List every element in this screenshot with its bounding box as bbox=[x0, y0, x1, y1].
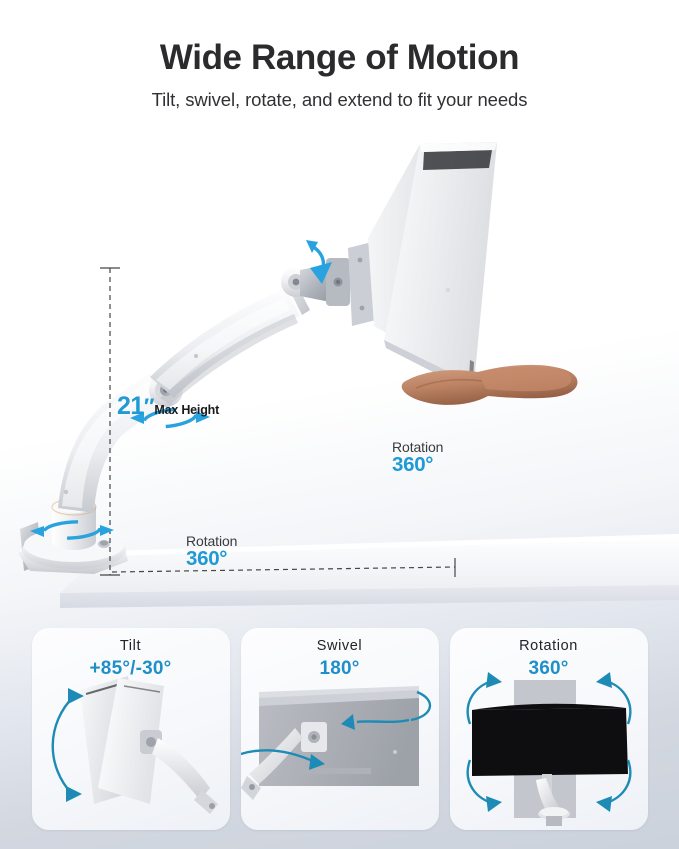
card-tilt-value: +85°/-30° bbox=[32, 658, 230, 680]
rotation-middle-word: Rotation bbox=[186, 534, 237, 548]
rotation-middle-value: 360° bbox=[186, 549, 237, 570]
max-height-value: 21 bbox=[117, 392, 144, 420]
max-height-caption: Max Height bbox=[154, 403, 219, 417]
page-subtitle: Tilt, swivel, rotate, and extend to fit … bbox=[0, 89, 679, 111]
feature-cards: Tilt +85°/-30° bbox=[0, 628, 679, 838]
card-rotation-name: Rotation bbox=[450, 638, 648, 655]
card-tilt-header: Tilt +85°/-30° bbox=[32, 628, 230, 679]
feature-card-rotation: Rotation 360° bbox=[450, 628, 648, 830]
feature-card-tilt: Tilt +85°/-30° bbox=[32, 628, 230, 830]
rotation-label-middle: Rotation 360° bbox=[186, 534, 237, 570]
page-title: Wide Range of Motion bbox=[0, 38, 679, 77]
max-height-label: 21″Max Height bbox=[117, 394, 219, 419]
card-swivel-header: Swivel 180° bbox=[241, 628, 439, 679]
card-rotation-header: Rotation 360° bbox=[450, 628, 648, 679]
max-height-unit: ″ bbox=[144, 394, 155, 419]
hero-illustration: 21″Max Height 25.6″Max Extension Rotatio… bbox=[0, 130, 679, 615]
rotation-top-word: Rotation bbox=[392, 440, 443, 454]
header: Wide Range of Motion Tilt, swivel, rotat… bbox=[0, 0, 679, 111]
arm-upper-segment bbox=[150, 283, 310, 398]
infographic-page: Wide Range of Motion Tilt, swivel, rotat… bbox=[0, 0, 679, 849]
rotation-top-value: 360° bbox=[392, 455, 443, 476]
rotation-label-top: Rotation 360° bbox=[392, 440, 443, 476]
monitor bbox=[368, 142, 497, 392]
feature-card-swivel: Swivel 180° bbox=[241, 628, 439, 830]
card-tilt-name: Tilt bbox=[32, 638, 230, 655]
monitor-arm-scene bbox=[0, 130, 679, 615]
card-swivel-value: 180° bbox=[241, 658, 439, 680]
hand bbox=[402, 365, 578, 405]
card-swivel-name: Swivel bbox=[241, 638, 439, 655]
card-rotation-value: 360° bbox=[450, 658, 648, 680]
